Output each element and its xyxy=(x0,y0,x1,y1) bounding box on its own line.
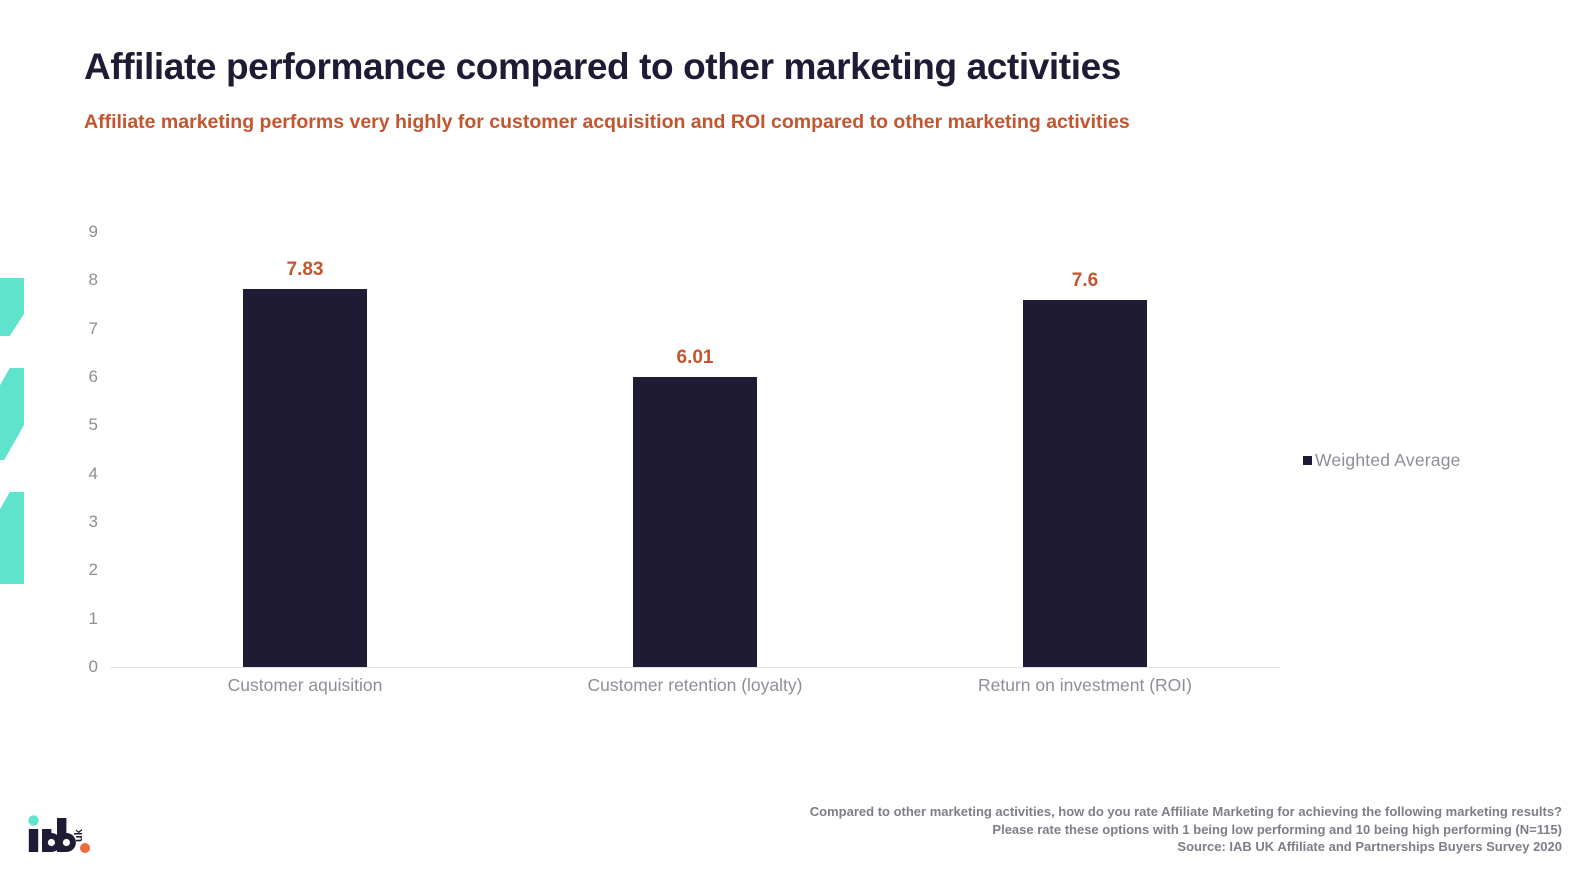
footnote-scale: Please rate these options with 1 being l… xyxy=(810,821,1562,839)
x-axis-label: Customer retention (loyalty) xyxy=(588,675,803,696)
legend-swatch-weighted-average xyxy=(1303,456,1312,465)
footnote-question: Compared to other marketing activities, … xyxy=(810,803,1562,821)
y-axis-tick: 5 xyxy=(74,415,98,435)
bar[interactable] xyxy=(1023,300,1147,667)
chart-legend[interactable]: Weighted Average xyxy=(1303,450,1461,471)
iab-uk-logo-icon: uk xyxy=(26,812,100,854)
bar[interactable] xyxy=(633,377,757,667)
x-axis-label: Return on investment (ROI) xyxy=(978,675,1192,696)
bar-value-label: 6.01 xyxy=(677,347,714,369)
bar-chart: 0123456789 7.836.017.6 Customer aquisiti… xyxy=(0,0,1588,888)
y-axis-tick: 0 xyxy=(74,657,98,677)
svg-text:uk: uk xyxy=(73,828,85,842)
y-axis-tick: 9 xyxy=(74,222,98,242)
bar-value-label: 7.83 xyxy=(287,259,324,281)
x-axis-label: Customer aquisition xyxy=(228,675,383,696)
footnotes: Compared to other marketing activities, … xyxy=(810,803,1562,856)
y-axis-tick: 6 xyxy=(74,367,98,387)
y-axis-tick: 1 xyxy=(74,609,98,629)
bar-value-label: 7.6 xyxy=(1072,270,1098,292)
y-axis-tick: 3 xyxy=(74,512,98,532)
iab-uk-logo: uk xyxy=(26,812,100,854)
y-axis-tick: 8 xyxy=(74,270,98,290)
y-axis-tick: 7 xyxy=(74,319,98,339)
y-axis-tick: 2 xyxy=(74,560,98,580)
footnote-source: Source: IAB UK Affiliate and Partnership… xyxy=(810,838,1562,856)
x-axis-line xyxy=(110,667,1280,668)
bar[interactable] xyxy=(243,289,367,667)
y-axis-tick: 4 xyxy=(74,464,98,484)
legend-label-weighted-average: Weighted Average xyxy=(1315,450,1461,471)
